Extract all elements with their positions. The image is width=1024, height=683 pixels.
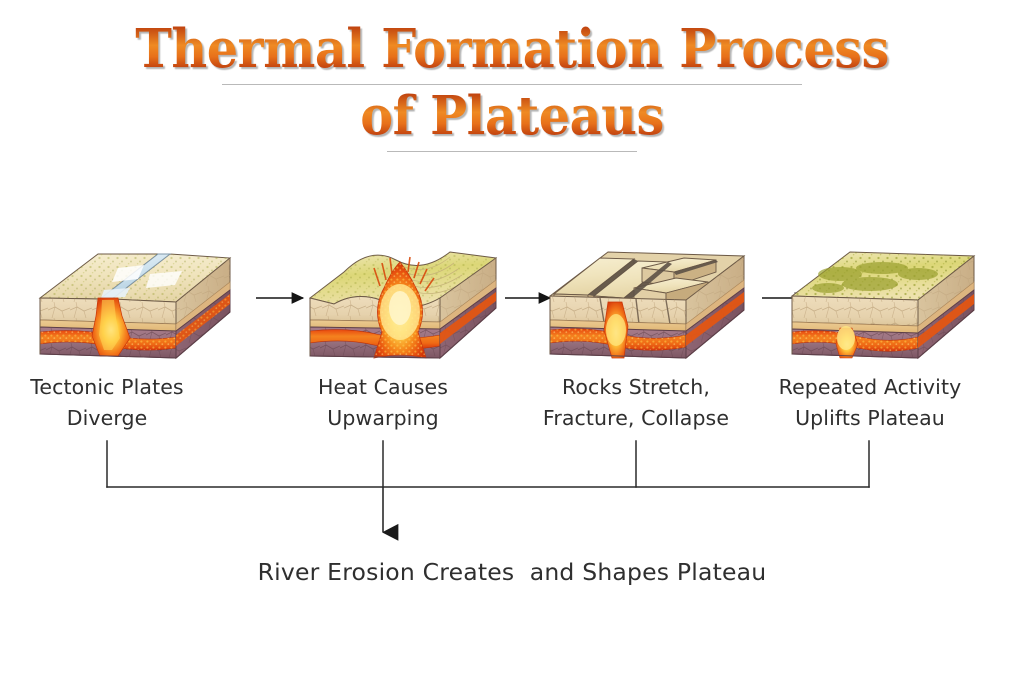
stage-3-illustration <box>538 238 762 364</box>
stage-2-caption-line-1: Heat Causes <box>283 372 483 403</box>
stage-4-illustration <box>778 238 990 364</box>
summary-caption: River Erosion Creates and Shapes Plateau <box>0 558 1024 586</box>
stage-3-caption-line-1: Rocks Stretch, <box>529 372 743 403</box>
summary-bracket <box>0 420 1024 555</box>
title-line-2: of Plateaus <box>36 85 988 147</box>
diagram-canvas: Thermal Formation Process of Plateaus <box>0 0 1024 683</box>
stage-1-illustration <box>26 238 242 364</box>
stage-1-caption-line-1: Tectonic Plates <box>7 372 207 403</box>
title-rule-2 <box>387 151 637 152</box>
stage-4-caption-line-1: Repeated Activity <box>772 372 968 403</box>
title-line-1: Thermal Formation Process <box>36 18 988 80</box>
page-title: Thermal Formation Process of Plateaus <box>0 18 1024 152</box>
stage-2-illustration <box>300 236 508 364</box>
